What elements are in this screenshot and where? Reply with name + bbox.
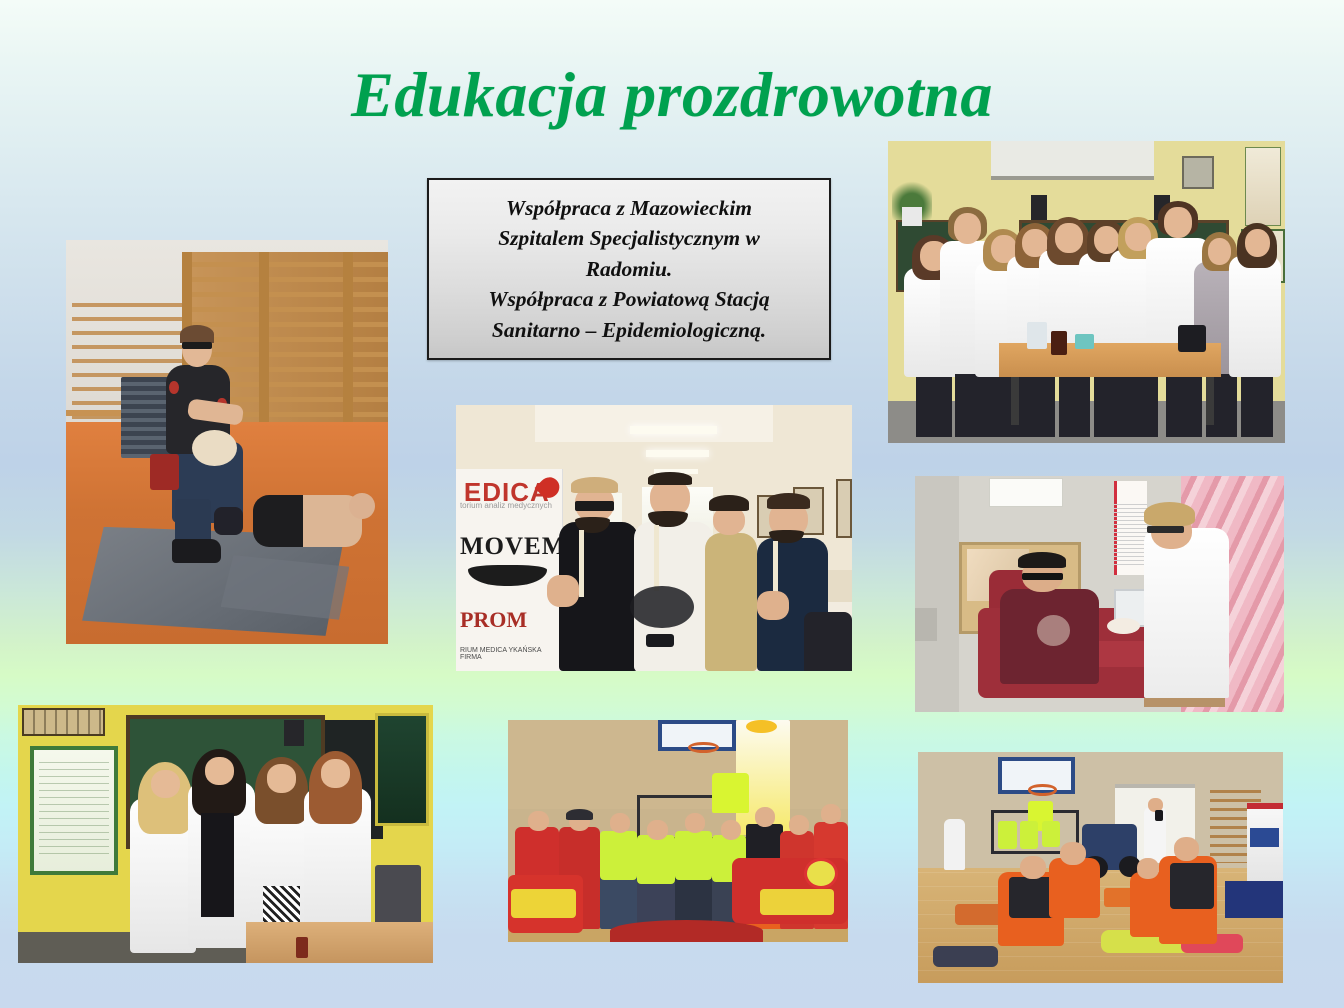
student-boot [172,539,220,563]
chart-text-lines [39,762,110,855]
medical-case [1104,888,1133,906]
ceiling-light [630,426,717,434]
clinic-wall-left [915,476,959,712]
student-face [685,813,705,833]
ceiling-light [646,450,709,456]
bar-post [343,252,353,430]
hand [757,591,789,620]
rescue-stretcher [760,889,835,916]
student-face [721,820,741,840]
sponsor-logo [1250,828,1279,846]
student-face [205,757,234,785]
photo-movember: EDICA torium analiz medycznych MOVEMB PR… [456,405,852,671]
bar-post [259,252,269,430]
wristwatch [646,634,674,647]
wall-poster [375,713,429,827]
hoodie-logo [1037,615,1070,646]
student-face [610,813,630,833]
rescuer-kneeling [1049,858,1100,918]
hi-vis-vest [1020,821,1038,849]
rescuer-face [1020,856,1046,879]
donor-glasses [1022,573,1063,580]
student-face [1208,238,1232,265]
cpr-manikin-head [349,493,375,519]
rescue-vest [1170,863,1214,909]
student-face [267,764,296,792]
rescue-stretcher [511,889,576,918]
student-hair [180,325,214,344]
black-top [201,813,234,916]
speaker [284,720,305,746]
student-face [321,759,350,787]
hoodie-logo [630,586,693,629]
hi-vis-vest [998,821,1016,849]
caption-line: Sanitarno – Epidemiologiczną. [492,315,766,346]
speaker [1031,195,1047,219]
student-hair [767,493,811,509]
student-hair [571,477,619,493]
rescuer-face [1174,837,1200,860]
hi-vis-shirt-display [712,773,749,813]
caption-line: Współpraca z Powiatową Stacją [488,284,769,315]
table-leg [1011,377,1019,425]
casualty-legs [933,946,999,967]
photo-rescue-simulation [918,752,1283,983]
lab-coat [1229,256,1281,377]
caption-line: Szpitalem Specjalistycznym w [498,223,760,254]
student-hair [648,472,692,485]
background-person [804,612,852,671]
tray [1075,334,1095,349]
glassware [1027,322,1047,349]
microscope [1178,325,1206,352]
nurse-coat [1144,528,1229,698]
door-handle [915,608,937,641]
table-leg [1206,377,1214,425]
infant-manikin [192,430,237,466]
caption-line: Radomiu. [586,254,673,285]
student-glasses [575,501,615,512]
donor-hair [1018,552,1066,569]
photo-four-students [18,705,433,963]
movember-text: MOVEMB [460,533,563,561]
cpr-manikin [253,495,362,548]
paramedic-face [528,811,548,831]
plant-pot [902,207,922,225]
student-face [647,820,667,840]
bystander [944,819,966,870]
student-face [1055,223,1083,253]
basketball-hoop [1028,784,1057,796]
student-boot [214,507,243,535]
photo-cpr-training [66,240,388,644]
banner-sun-logo [746,720,777,733]
student-face [954,213,982,243]
photo-lab-coat-group [888,141,1285,443]
lab-table [246,922,433,963]
caption-text-box: Współpraca z Mazowieckim Szpitalem Specj… [427,178,831,360]
photo-collage [22,708,105,736]
rescue-hose [610,920,763,942]
rescuer-face [1060,842,1086,865]
hi-vis-vest [600,831,637,880]
medica-subtitle: torium analiz medycznych [460,501,559,510]
anatomy-poster [1245,147,1281,226]
microphone [1155,810,1162,822]
student-face [151,770,180,798]
promo-text: PROM [460,607,555,633]
photo-rescue-demo [508,720,848,942]
reagent-bottle [296,937,308,958]
uniform-badge [169,381,179,394]
rescuer-face [821,804,841,824]
registration-table [1225,881,1283,918]
page-title: Edukacja prozdrowotna [0,58,1344,132]
reagent-bottle [1051,331,1067,355]
stool [375,865,421,927]
background-person-hair [709,495,749,511]
hand [547,575,579,607]
medica-footer: RIUM MEDICA YKAŃSKA FIRMA [460,647,563,661]
rescuer-face [789,815,809,835]
student-face [1245,229,1271,258]
caption-line: Współpraca z Mazowieckim [506,193,752,224]
wall-sign [989,478,1063,506]
nurse-hair [1144,502,1196,526]
first-aid-bag [150,454,179,490]
student-glasses [182,342,213,349]
gloved-hand [1107,618,1140,635]
hi-vis-vest [1042,821,1060,846]
hi-vis-vest [637,835,674,884]
projector-screen [991,141,1154,180]
rescuer-face [755,807,775,827]
background-person [705,533,756,671]
photo-blood-donation [915,476,1284,712]
student-hair [566,809,593,820]
student-face [1164,207,1192,237]
prop-stick [579,530,584,597]
sponsor-banner [1247,803,1284,891]
hi-vis-vest [675,831,712,880]
wall-picture [836,479,852,538]
student-face [1094,226,1120,255]
rescuer-face [1137,858,1159,879]
wall-clock [1182,156,1214,189]
nurse-glasses [1147,526,1184,533]
corridor-ceiling [535,405,773,442]
calendar-grid [1114,504,1147,565]
prop-stick [654,525,659,592]
spine-board-wheel [804,858,838,889]
